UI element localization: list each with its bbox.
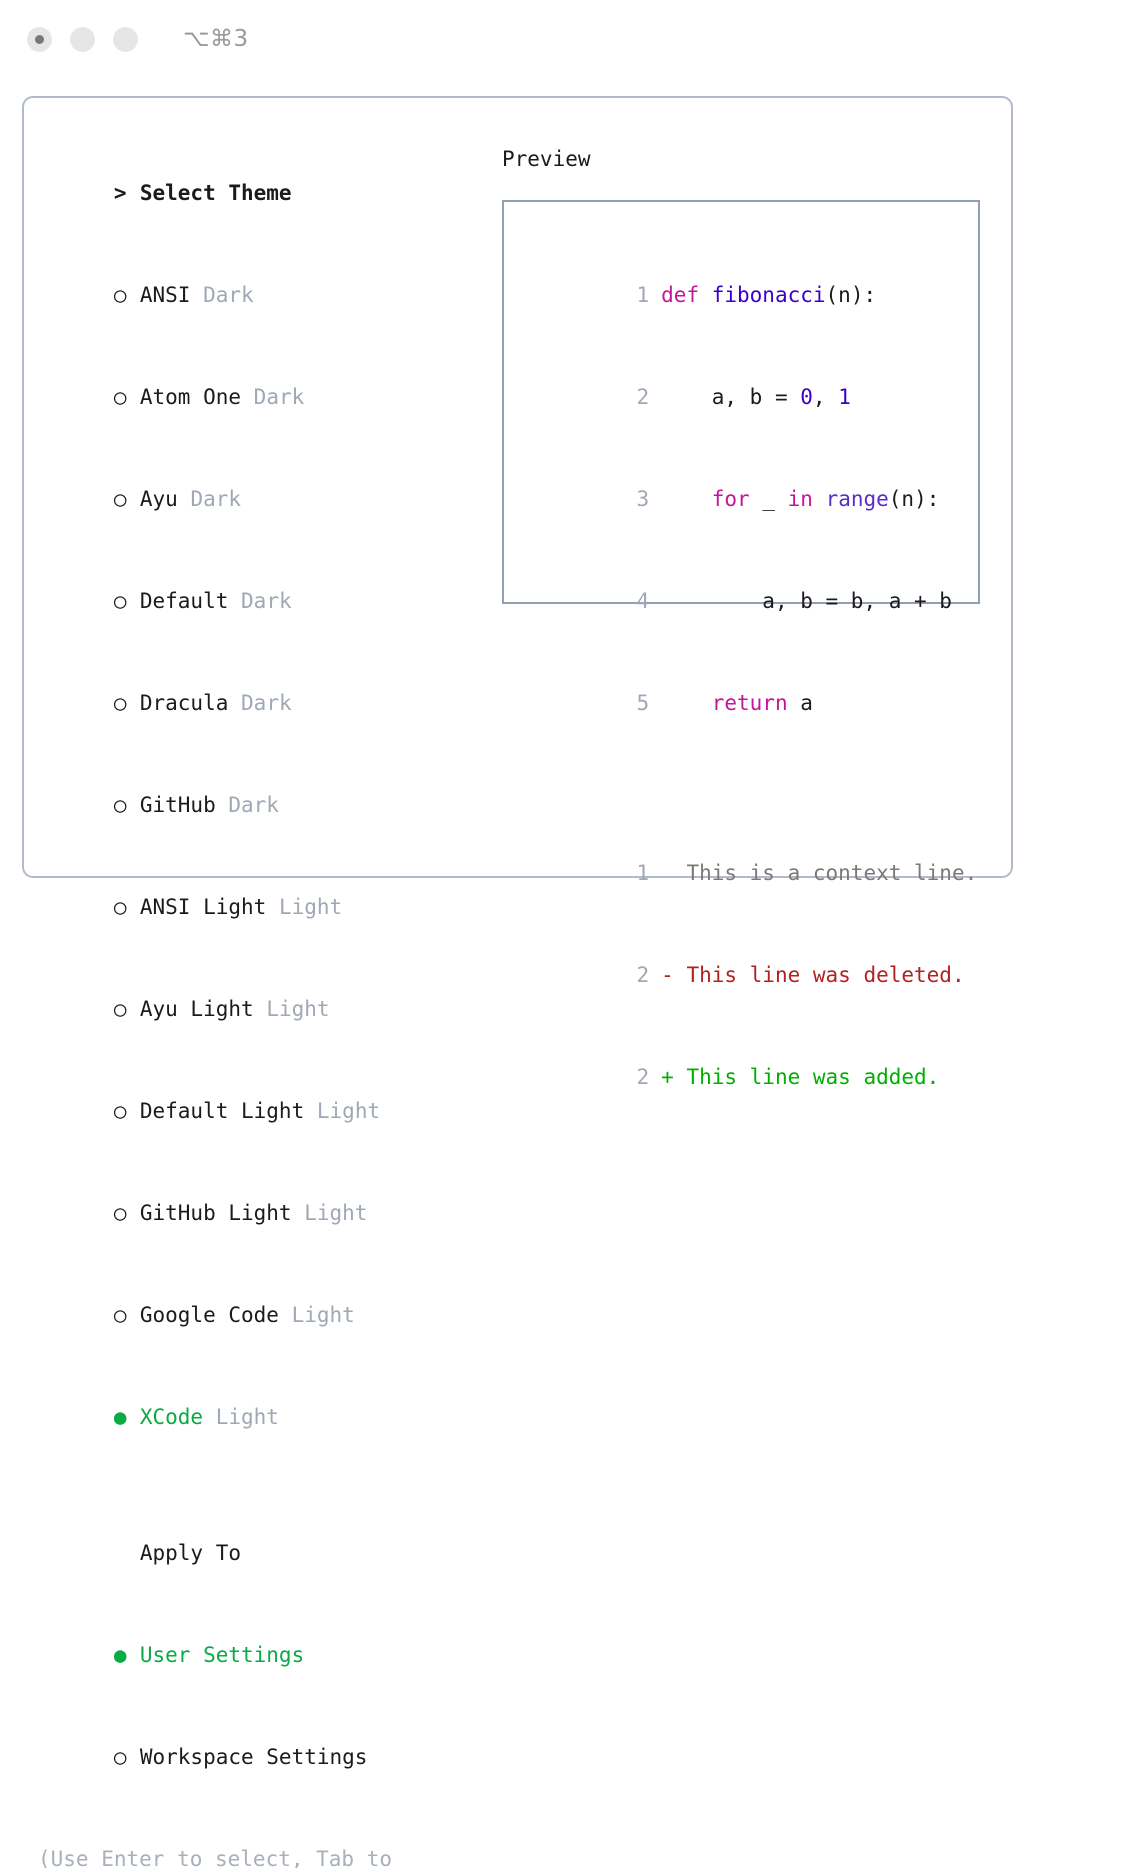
theme-list-item[interactable]: ○Default Dark bbox=[38, 550, 478, 652]
radio-unselected-icon: ○ bbox=[114, 992, 140, 1026]
code-line: 2 a, b = 0, 1 bbox=[522, 346, 978, 448]
apply-to-heading: Apply To bbox=[38, 1502, 478, 1604]
line-number: 1 bbox=[623, 278, 649, 312]
code-token-plain bbox=[661, 487, 712, 511]
theme-list-item[interactable]: ○Ayu Light Light bbox=[38, 958, 478, 1060]
radio-unselected-icon: ○ bbox=[114, 482, 140, 516]
theme-variant-label: Light bbox=[279, 895, 342, 919]
code-token-plain: (n): bbox=[889, 487, 940, 511]
theme-variant-label: Light bbox=[292, 1303, 355, 1327]
code-token-builtin: range bbox=[826, 487, 889, 511]
apply-to-option-label: User Settings bbox=[140, 1643, 304, 1667]
theme-variant-label: Light bbox=[317, 1099, 380, 1123]
theme-list-column: >Select Theme ○ANSI Dark ○Atom One Dark … bbox=[38, 142, 478, 1868]
line-number: 3 bbox=[623, 482, 649, 516]
code-token-keyword: in bbox=[788, 487, 813, 511]
code-line: 3 for _ in range(n): bbox=[522, 448, 978, 550]
theme-name-label: Ayu bbox=[140, 487, 178, 511]
theme-list-item[interactable]: ○Google Code Light bbox=[38, 1264, 478, 1366]
theme-list-item[interactable]: ○Default Light Light bbox=[38, 1060, 478, 1162]
line-number: 2 bbox=[623, 958, 649, 992]
theme-name-label: Dracula bbox=[140, 691, 229, 715]
theme-name-label: Default Light bbox=[140, 1099, 304, 1123]
preview-column: Preview 1def fibonacci(n): 2 a, b = 0, 1… bbox=[502, 142, 1002, 604]
window-dot-active-inner-icon bbox=[35, 35, 44, 44]
radio-unselected-icon: ○ bbox=[114, 380, 140, 414]
radio-selected-icon: ● bbox=[114, 1400, 140, 1434]
theme-name-label: Google Code bbox=[140, 1303, 279, 1327]
preview-box: 1def fibonacci(n): 2 a, b = 0, 1 3 for _… bbox=[502, 200, 980, 604]
code-token-plain: _ bbox=[750, 487, 788, 511]
line-number: 2 bbox=[623, 380, 649, 414]
code-token-plain: a bbox=[788, 691, 813, 715]
code-token-keyword: def bbox=[661, 283, 712, 307]
radio-unselected-icon: ○ bbox=[114, 686, 140, 720]
theme-variant-label: Dark bbox=[241, 589, 292, 613]
prompt-caret-icon: > bbox=[114, 176, 140, 210]
theme-name-label: Default bbox=[140, 589, 229, 613]
theme-name-label: ANSI Light bbox=[140, 895, 266, 919]
keyboard-hint-text: (Use Enter to select, Tab to change focu… bbox=[38, 1842, 438, 1868]
code-blank-line bbox=[522, 788, 978, 822]
code-token-keyword: return bbox=[712, 691, 788, 715]
code-token-number: 1 bbox=[838, 385, 851, 409]
select-theme-heading-label: Select Theme bbox=[140, 181, 292, 205]
theme-list-item[interactable]: ○GitHub Light Light bbox=[38, 1162, 478, 1264]
window-controls bbox=[27, 27, 138, 52]
radio-unselected-icon: ○ bbox=[114, 584, 140, 618]
code-token-plain: (n): bbox=[826, 283, 877, 307]
diff-line-added: 2+ This line was added. bbox=[522, 1026, 978, 1128]
theme-variant-label: Light bbox=[304, 1201, 367, 1225]
radio-unselected-icon: ○ bbox=[114, 1740, 140, 1774]
radio-unselected-icon: ○ bbox=[114, 788, 140, 822]
theme-list-item[interactable]: ○Atom One Dark bbox=[38, 346, 478, 448]
line-number: 5 bbox=[623, 686, 649, 720]
apply-to-option-user-settings[interactable]: ●User Settings bbox=[38, 1604, 478, 1706]
theme-variant-label: Light bbox=[216, 1405, 279, 1429]
theme-name-label: GitHub Light bbox=[140, 1201, 292, 1225]
theme-list-item[interactable]: ○ANSI Light Light bbox=[38, 856, 478, 958]
theme-variant-label: Dark bbox=[254, 385, 305, 409]
code-token-keyword: for bbox=[712, 487, 750, 511]
keyboard-shortcut-label: ⌥⌘3 bbox=[183, 26, 249, 52]
diff-line-context: 1 This is a context line. bbox=[522, 822, 978, 924]
code-token-number: 0 bbox=[800, 385, 813, 409]
apply-to-option-label: Workspace Settings bbox=[140, 1745, 368, 1769]
radio-unselected-icon: ○ bbox=[114, 1094, 140, 1128]
line-number: 2 bbox=[623, 1060, 649, 1094]
select-theme-heading: >Select Theme bbox=[38, 142, 478, 244]
theme-list-item[interactable]: ○GitHub Dark bbox=[38, 754, 478, 856]
theme-variant-label: Dark bbox=[241, 691, 292, 715]
theme-picker-panel: >Select Theme ○ANSI Dark ○Atom One Dark … bbox=[22, 96, 1013, 878]
window-dot-active[interactable] bbox=[27, 27, 52, 52]
code-token-plain bbox=[661, 691, 712, 715]
theme-variant-label: Dark bbox=[203, 283, 254, 307]
theme-list-item[interactable]: ○Ayu Dark bbox=[38, 448, 478, 550]
radio-unselected-icon: ○ bbox=[114, 890, 140, 924]
code-token-plain bbox=[813, 487, 826, 511]
radio-unselected-icon: ○ bbox=[114, 1196, 140, 1230]
theme-name-label: XCode bbox=[140, 1405, 203, 1429]
radio-selected-icon: ● bbox=[114, 1638, 140, 1672]
diff-text-context: This is a context line. bbox=[661, 861, 977, 885]
code-blank-line bbox=[522, 754, 978, 788]
code-line: 5 return a bbox=[522, 652, 978, 754]
line-number: 4 bbox=[623, 584, 649, 618]
radio-unselected-icon: ○ bbox=[114, 278, 140, 312]
code-token-plain: , bbox=[813, 385, 838, 409]
theme-variant-label: Dark bbox=[190, 487, 241, 511]
code-token-plain: a, b = bbox=[661, 385, 800, 409]
window-dot-second[interactable] bbox=[70, 27, 95, 52]
diff-text-added: + This line was added. bbox=[661, 1065, 939, 1089]
code-line: 4 a, b = b, a + b bbox=[522, 550, 978, 652]
theme-list-item[interactable]: ○Dracula Dark bbox=[38, 652, 478, 754]
code-line: 1def fibonacci(n): bbox=[522, 244, 978, 346]
code-token-plain: a, b = b, a + b bbox=[661, 589, 952, 613]
theme-name-label: ANSI bbox=[140, 283, 191, 307]
theme-list-item-selected[interactable]: ●XCode Light bbox=[38, 1366, 478, 1468]
section-spacer bbox=[38, 1468, 478, 1502]
apply-to-heading-label: Apply To bbox=[140, 1541, 241, 1565]
radio-unselected-icon: ○ bbox=[114, 1298, 140, 1332]
theme-variant-label: Light bbox=[266, 997, 329, 1021]
theme-variant-label: Dark bbox=[228, 793, 279, 817]
theme-name-label: Ayu Light bbox=[140, 997, 254, 1021]
window-titlebar: ⌥⌘3 bbox=[0, 0, 1140, 78]
code-token-function: fibonacci bbox=[712, 283, 826, 307]
line-number: 1 bbox=[623, 856, 649, 890]
diff-text-deleted: - This line was deleted. bbox=[661, 963, 964, 987]
apply-to-option-workspace-settings[interactable]: ○Workspace Settings bbox=[38, 1706, 478, 1808]
theme-name-label: Atom One bbox=[140, 385, 241, 409]
preview-heading: Preview bbox=[502, 142, 1002, 176]
theme-list-item[interactable]: ○ANSI Dark bbox=[38, 244, 478, 346]
theme-name-label: GitHub bbox=[140, 793, 216, 817]
window-dot-third[interactable] bbox=[113, 27, 138, 52]
diff-line-deleted: 2- This line was deleted. bbox=[522, 924, 978, 1026]
